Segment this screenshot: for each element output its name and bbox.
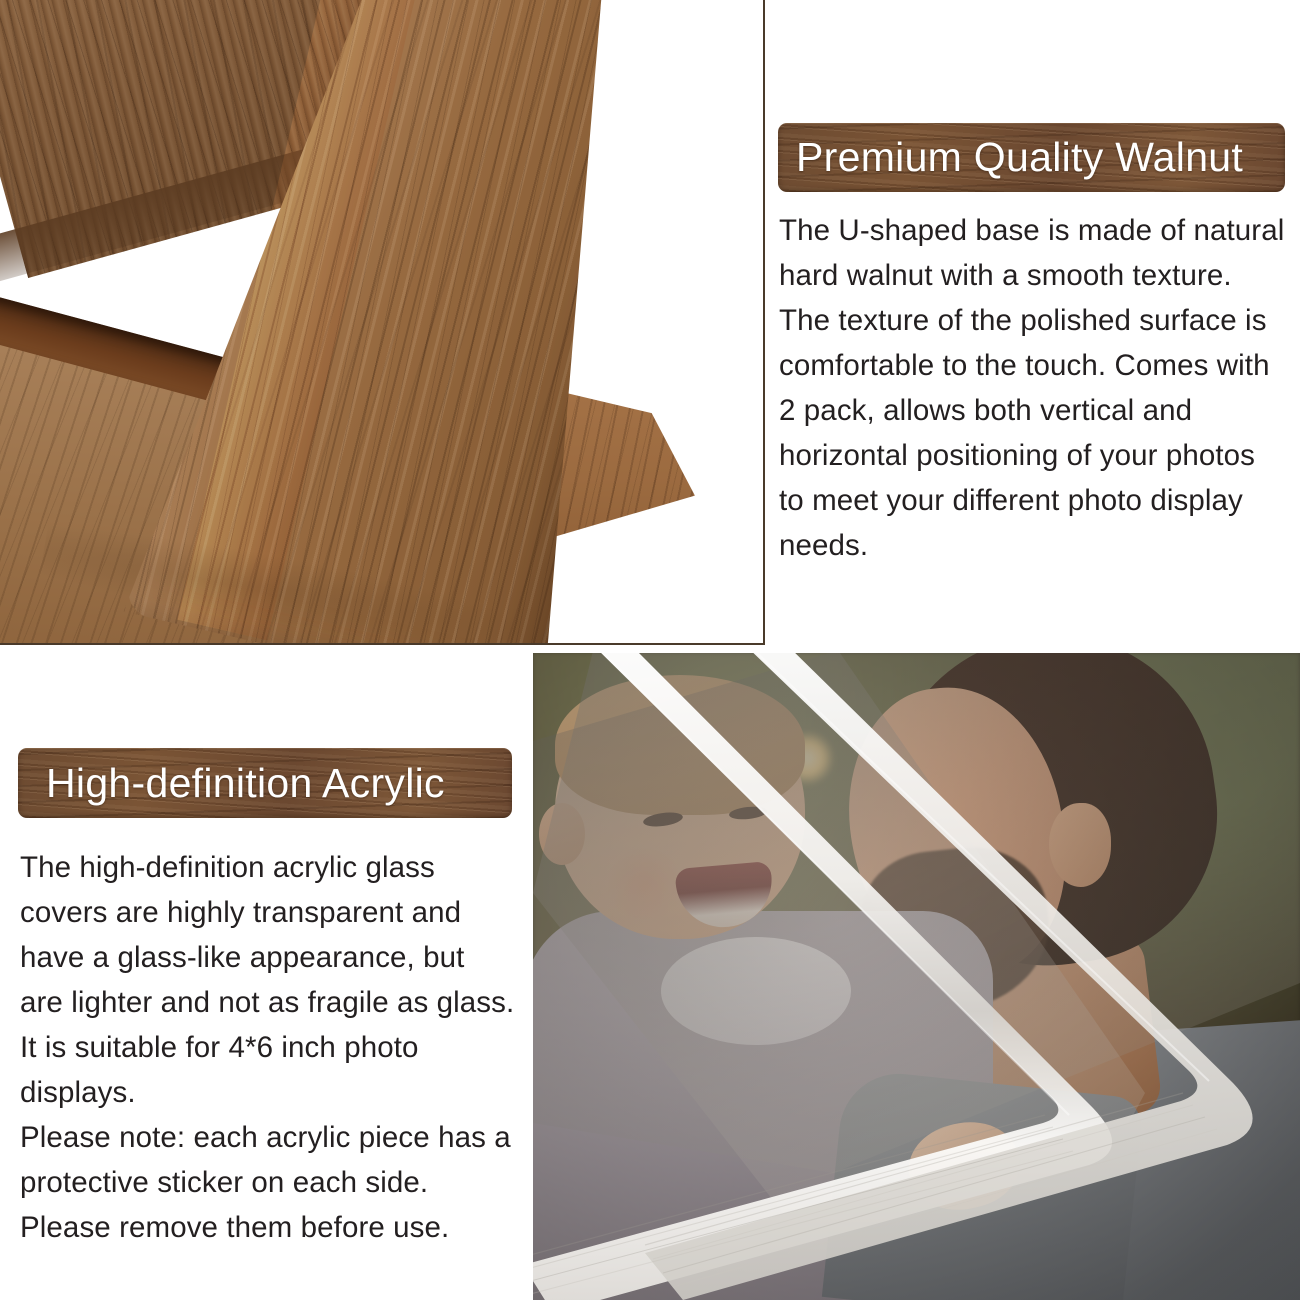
body-line: covers are highly transparent and [20,890,520,935]
banner-label-high-definition-acrylic: High-definition Acrylic [18,763,445,804]
banner-label-premium-quality-walnut: Premium Quality Walnut [778,137,1243,178]
body-line: have a glass-like appearance, but [20,935,520,980]
body-line: comfortable to the touch. Comes with [779,343,1291,388]
body-line: needs. [779,523,1291,568]
walnut-stand-scene [0,0,763,643]
photo-vignette [533,653,1300,1300]
body-line: It is suitable for 4*6 inch photo [20,1025,520,1070]
body-line: are lighter and not as fragile as glass. [20,980,520,1025]
body-line: protective sticker on each side. [20,1160,520,1205]
walnut-stand-photo [0,0,765,645]
body-line: The texture of the polished surface is [779,298,1291,343]
section-body-premium-quality-walnut: The U-shaped base is made of natural har… [779,208,1291,568]
body-line: hard walnut with a smooth texture. [779,253,1291,298]
infographic-canvas: Premium Quality Walnut The U-shaped base… [0,0,1300,1300]
family-photo [533,653,1300,1300]
body-line: to meet your different photo display [779,478,1291,523]
body-line: The U-shaped base is made of natural [779,208,1291,253]
body-line: The high-definition acrylic glass [20,845,520,890]
section-banner-high-definition-acrylic: High-definition Acrylic [18,748,512,818]
body-line: Please remove them before use. [20,1205,520,1250]
body-line: 2 pack, allows both vertical and [779,388,1291,433]
body-line: horizontal positioning of your photos [779,433,1291,478]
section-banner-premium-quality-walnut: Premium Quality Walnut [778,123,1285,192]
body-line: Please note: each acrylic piece has a [20,1115,520,1160]
section-body-high-definition-acrylic: The high-definition acrylic glass covers… [20,845,520,1250]
body-line: displays. [20,1070,520,1115]
